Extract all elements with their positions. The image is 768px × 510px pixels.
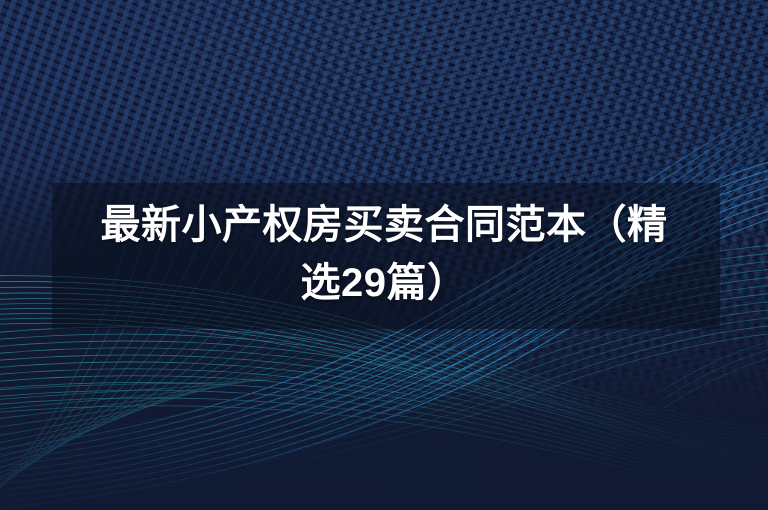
- title-line-2: 选29篇）: [0, 254, 768, 312]
- poster-canvas: 最新小产权房买卖合同范本（精 选29篇）: [0, 0, 768, 510]
- title-line-1: 最新小产权房买卖合同范本（精: [0, 196, 768, 254]
- poster-title: 最新小产权房买卖合同范本（精 选29篇）: [0, 196, 768, 312]
